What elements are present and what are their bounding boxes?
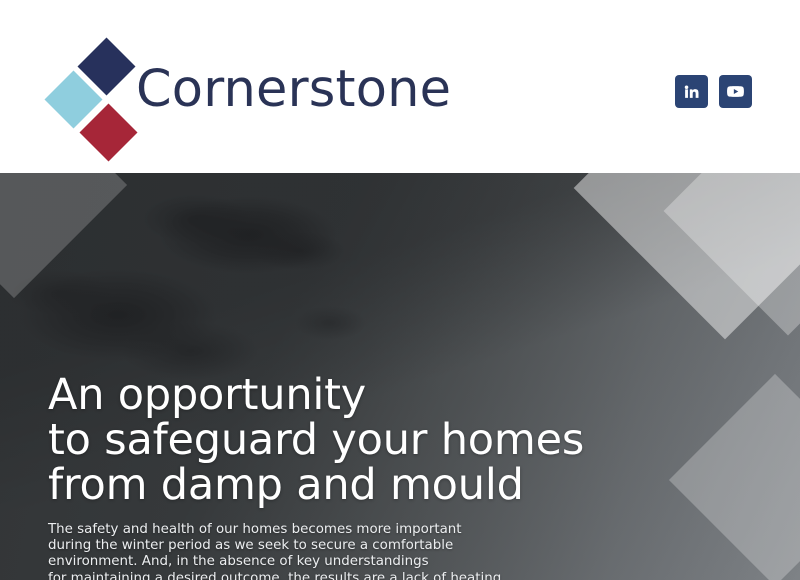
social-links (675, 75, 752, 108)
hero-body-line-1: The safety and health of our homes becom… (48, 522, 468, 538)
linkedin-icon (683, 83, 700, 100)
hero-body-line-2: during the winter period as we seek to s… (48, 538, 468, 554)
hero-title-line-1: An opportunity (48, 373, 648, 418)
hero-title-line-2: to safeguard your homes (48, 418, 648, 463)
logo-wordmark: Cornerstone (136, 60, 451, 120)
hero-body-line-3: environment. And, in the absence of key … (48, 554, 468, 570)
youtube-icon (726, 82, 745, 101)
social-link-linkedin[interactable] (675, 75, 708, 108)
logo-diamonds (48, 36, 140, 140)
hero-body-text: The safety and health of our homes becom… (48, 522, 468, 580)
hero-body-line-4: for maintaining a desired outcome, the r… (48, 571, 468, 580)
social-link-youtube[interactable] (719, 75, 752, 108)
logo[interactable]: Cornerstone (48, 36, 338, 140)
hero-title: An opportunity to safeguard your homes f… (48, 373, 648, 508)
hero-title-line-3: from damp and mould (48, 463, 648, 508)
hero-banner: An opportunity to safeguard your homes f… (0, 173, 800, 580)
site-header: Cornerstone (0, 0, 800, 173)
